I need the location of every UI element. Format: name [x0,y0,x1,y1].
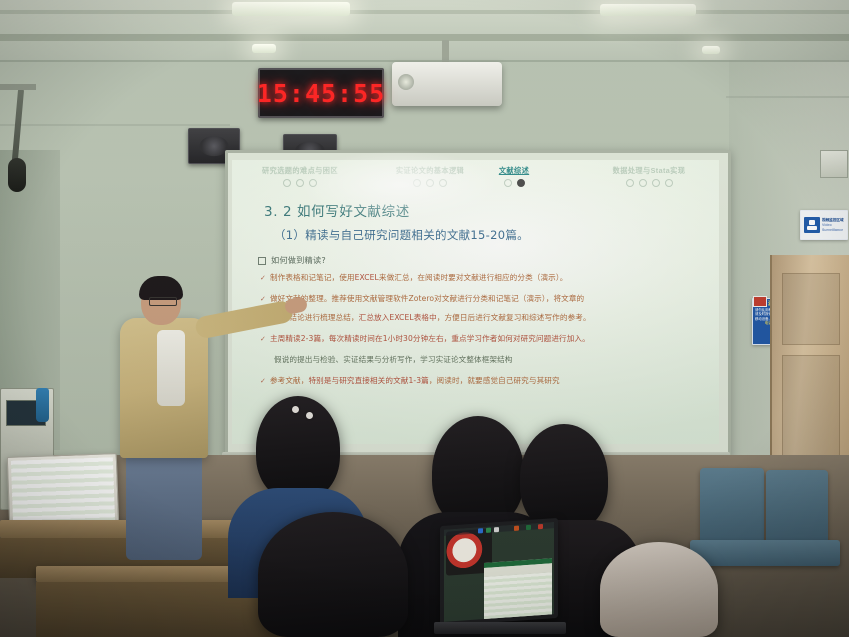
bullet-segment: 来做汇总，在阅读时要对文献进行相应的分类（演示）。 [379,273,568,282]
podium-laptop[interactable] [7,453,119,529]
slide-nav-tab-2-active[interactable]: 文献综述 [454,166,574,187]
nav-dot[interactable] [413,179,421,187]
slide-subtitle: （1）精读与自己研究问题相关的文献15-20篇。 [274,227,529,243]
app-icon[interactable] [486,527,491,532]
slide-nav-tab-label: 数据处理与Stata实现 [584,166,714,176]
student-head [520,424,608,532]
app-icon[interactable] [514,525,519,530]
check-icon: ✓ [260,274,266,282]
slide-bullet-1: ✓做好文献的整理。推荐使用文献管理软件Zotero对文献进行分类和记笔记（演示）… [260,293,584,304]
hair-clip [306,412,313,419]
digital-clock: 15:45:55 [258,68,384,118]
chair-seat-row[interactable] [690,540,840,566]
laptop-screen[interactable] [444,522,554,622]
nav-dot[interactable] [283,179,291,187]
app-icon[interactable] [494,527,499,532]
excel-grid[interactable] [484,572,552,621]
bullet-segment-highlight: 汇总放入EXCEL表格中 [359,313,437,322]
projector-lens-icon [398,74,414,90]
surveillance-sign-text: 视频监控区域 Video Surveillance [822,218,847,233]
nav-dot[interactable] [504,179,512,187]
student-desk [0,520,250,538]
glasses-icon [149,297,177,306]
ceiling-beam-secondary [0,10,849,14]
checkbox-icon [258,257,266,265]
bullet-segment: 做好文献的整理。推荐使用文献管理软件Zotero对文献进行分类和记笔记（演示），… [270,294,584,303]
slide-bullet-4: 假说的提出与检验、实证结果与分析写作，学习实证论文整体框架结构 [274,354,513,365]
ceiling-light-small [252,44,276,53]
slide-nav-tab-0[interactable]: 研究选题的难点与困区 [242,166,358,187]
app-icon[interactable] [478,528,483,533]
bullet-segment-highlight: 主周精读2-3篇，每次精读时间在1小时30分钟左右，重点学习作者如何对研究问题进… [270,334,590,343]
check-icon: ✓ [260,295,266,303]
ceiling-light [232,2,350,16]
bullet-segment-highlight: EXCEL [355,273,379,282]
slide-bullet-3: ✓主周精读2-3篇，每次精读时间在1小时30分钟左右，重点学习作者如何对研究问题… [260,333,590,344]
nav-dot-active[interactable] [517,179,525,187]
slide-nav-dots [584,179,714,187]
check-icon: ✓ [260,335,266,343]
nav-dot[interactable] [639,179,647,187]
bullet-segment: 假说的提出与检验、实证结果与分析写作，学习实证论文整体框架结构 [274,355,513,364]
projector-mount [442,40,449,64]
nav-dot[interactable] [439,179,447,187]
slide-bullet-2: 主要结论进行梳理总结，汇总放入EXCEL表格中，方便日后进行文献复习和综述写作的… [274,312,591,323]
nav-dot[interactable] [296,179,304,187]
classroom-chair[interactable] [700,468,764,546]
door-panel [782,355,840,457]
ceiling-light [600,4,696,16]
surveillance-line1: 视频监控区域 [822,218,847,223]
instructor-legs [126,450,202,560]
classroom-chair[interactable] [766,470,828,546]
door-panel [782,273,840,345]
bullet-segment: ，阅读时，就要感觉自己研究与其研究 [429,376,560,385]
wall-bracket [0,84,36,90]
student-head [258,512,408,637]
slide-nav-tabs: 研究选题的难点与困区 实证论文的基本逻辑 文献综述 [232,166,719,196]
slide-nav-dots [242,179,358,187]
bullet-segment: ，方便日后进行文献复习和综述写作的参考。 [437,313,591,322]
surveillance-sign: 视频监控区域 Video Surveillance [800,210,848,240]
clock-time: 15:45:55 [257,79,385,108]
microphone-icon [8,158,26,192]
notice-sign-tag [753,296,767,307]
ceiling-light-small [702,46,720,54]
spreadsheet-screen [11,457,115,525]
surveillance-line2: Video Surveillance [822,223,847,233]
water-bottle[interactable] [36,388,49,422]
instructor-shirt [157,330,185,406]
projector [392,62,502,106]
bullet-segment-highlight: 特别是与研究直接相关的文献1-3篇 [308,376,428,385]
slide-nav-tab-label: 文献综述 [454,166,574,176]
app-icon[interactable] [526,524,531,529]
slide-title: 3. 2 如何写好文献综述 [264,200,410,220]
bullet-segment: 参考文献， [270,376,308,385]
ceiling-beam [0,34,849,41]
wall-trim [726,96,849,98]
wall-control-box [820,150,848,178]
hair-clip [292,406,299,413]
camera-icon [804,217,820,233]
wall-trim [0,124,230,126]
slide-question: 如何做到精读? [258,254,326,266]
slide-question-text: 如何做到精读? [271,255,326,265]
slide-nav-dots [454,179,574,187]
classroom-photo: 15:45:55 研究选题的难点与困区 实证论文的基本逻辑 [0,0,849,637]
nav-dot[interactable] [652,179,660,187]
nav-dot[interactable] [665,179,673,187]
bullet-segment: 制作表格和记笔记，使用 [270,273,355,282]
classroom-door[interactable] [770,255,849,485]
slide-bullet-5: ✓参考文献，特别是与研究直接相关的文献1-3篇，阅读时，就要感觉自己研究与其研究 [260,375,560,386]
slide-nav-tab-label: 研究选题的难点与困区 [242,166,358,176]
excel-window[interactable] [484,558,552,621]
slide-bullet-0: ✓制作表格和记笔记，使用EXCEL来做汇总，在阅读时要对文献进行相应的分类（演示… [260,272,567,283]
nav-dot[interactable] [309,179,317,187]
check-icon: ✓ [260,377,266,385]
laptop-keyboard-base[interactable] [434,622,566,634]
student-shoulder-light [600,542,718,637]
nav-dot[interactable] [626,179,634,187]
nav-dot[interactable] [426,179,434,187]
app-icon[interactable] [538,523,543,528]
slide-nav-tab-3[interactable]: 数据处理与Stata实现 [584,166,714,187]
